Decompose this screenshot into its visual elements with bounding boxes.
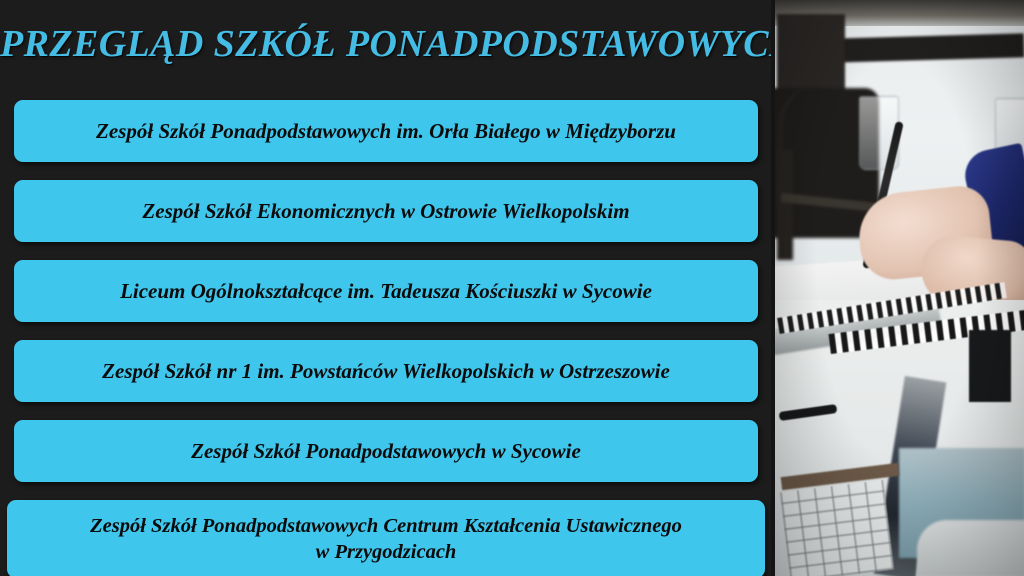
list-item[interactable]: Zespół Szkół Ponadpodstawowych w Sycowie bbox=[14, 420, 758, 482]
school-name-label: Zespół Szkół Ekonomicznych w Ostrowie Wi… bbox=[142, 198, 629, 225]
list-item[interactable]: Liceum Ogólnokształcące im. Tadeusza Koś… bbox=[14, 260, 758, 322]
list-item[interactable]: Zespół Szkół Ponadpodstawowych im. Orła … bbox=[14, 100, 758, 162]
presentation-slide: PRZEGLĄD SZKÓŁ PONADPODSTAWOWYCH Zespół … bbox=[0, 0, 1024, 576]
slide-content-column: PRZEGLĄD SZKÓŁ PONADPODSTAWOWYCH Zespół … bbox=[0, 0, 771, 576]
list-item[interactable]: Zespół Szkół Ekonomicznych w Ostrowie Wi… bbox=[14, 180, 758, 242]
list-item[interactable]: Zespół Szkół Ponadpodstawowych Centrum K… bbox=[7, 500, 765, 576]
school-name-label: Zespół Szkół Ponadpodstawowych im. Orła … bbox=[96, 118, 676, 145]
school-name-label: Liceum Ogólnokształcące im. Tadeusza Koś… bbox=[120, 278, 652, 305]
list-item[interactable]: Zespół Szkół nr 1 im. Powstańców Wielkop… bbox=[14, 340, 758, 402]
school-name-label: Zespół Szkół nr 1 im. Powstańców Wielkop… bbox=[102, 358, 670, 385]
school-name-label: Zespół Szkół Ponadpodstawowych Centrum K… bbox=[90, 513, 682, 565]
person-writing-in-notebook-photo bbox=[771, 0, 1024, 576]
school-name-label: Zespół Szkół Ponadpodstawowych w Sycowie bbox=[191, 438, 581, 465]
page-title: PRZEGLĄD SZKÓŁ PONADPODSTAWOWYCH bbox=[0, 22, 790, 66]
photo-left-edge bbox=[771, 0, 775, 576]
photo-vignette bbox=[771, 0, 1024, 576]
